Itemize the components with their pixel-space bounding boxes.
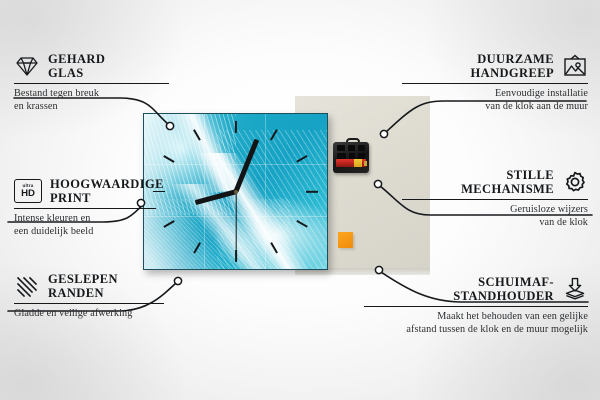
wall-clock [143,113,328,270]
feature-description: Bestand tegen breuk en krassen [14,88,169,113]
feature-duurzame-handgreep: DUURZAME HANDGREEP Eenvoudige installati… [402,52,588,113]
feature-description: Maakt het behouden van een gelijke afsta… [364,311,588,336]
feature-title: HOOGWAARDIGE PRINT [50,177,164,205]
feature-divider [14,83,169,84]
feature-title: DUURZAME HANDGREEP [471,52,554,80]
battery-label [354,159,362,167]
feature-gehard-glas: GEHARD GLAS Bestand tegen breuk en krass… [14,52,169,113]
foam-spacer [338,232,353,248]
feature-geslepen-randen: GESLEPEN RANDEN Gladde en veilige afwerk… [14,272,164,321]
feature-title-row: DUURZAME HANDGREEP [402,52,588,80]
hour-marker [235,250,237,262]
feature-divider [402,199,588,200]
mechanism-vent [348,145,355,151]
feature-title: GEHARD GLAS [48,52,105,80]
feature-divider [402,83,588,84]
feature-title-row: ultra HD HOOGWAARDIGE PRINT [14,177,156,205]
product-photo [140,96,430,282]
feature-title: GESLEPEN RANDEN [48,272,118,300]
feature-title: SCHUIMAF- STANDHOUDER [453,275,554,303]
mechanism-body [333,142,369,173]
hour-marker [235,121,237,133]
ultra-hd-icon: ultra HD [14,179,42,203]
clock-mechanism [333,138,369,173]
diamond-icon [14,54,40,78]
feature-description: Eenvoudige installatie van de klok aan d… [402,88,588,113]
feature-stille-mechanisme: STILLE MECHANISME Geruisloze wijzers van… [402,168,588,229]
feature-title-row: SCHUIMAF- STANDHOUDER [364,275,588,303]
gear-icon [562,170,588,194]
picture-frame-icon [562,54,588,78]
second-hand [235,191,236,249]
feature-schuimafstandhouder: SCHUIMAF- STANDHOUDER Maakt het behouden… [364,275,588,336]
press-down-layers-icon [562,277,588,301]
infographic-canvas: GEHARD GLAS Bestand tegen breuk en krass… [0,0,600,400]
feature-description: Intense kleuren en een duidelijk beeld [14,213,156,238]
feature-divider [14,208,156,209]
feature-description: Gladde en veilige afwerking [14,308,164,320]
feature-title: STILLE MECHANISME [461,168,554,196]
mechanism-vent [337,145,345,151]
feature-title-row: GEHARD GLAS [14,52,169,80]
hour-marker [306,191,318,193]
feature-hoogwaardige-print: ultra HD HOOGWAARDIGE PRINT Intense kleu… [14,177,156,238]
hands-center-cap [234,190,238,194]
mechanism-vent [358,145,365,151]
battery-plus-terminal [364,161,367,166]
feature-title-row: GESLEPEN RANDEN [14,272,164,300]
feature-description: Geruisloze wijzers van de klok [402,204,588,229]
feature-divider [14,303,164,304]
feature-divider [364,306,588,307]
bevelled-edges-icon [14,274,40,298]
feature-title-row: STILLE MECHANISME [402,168,588,196]
